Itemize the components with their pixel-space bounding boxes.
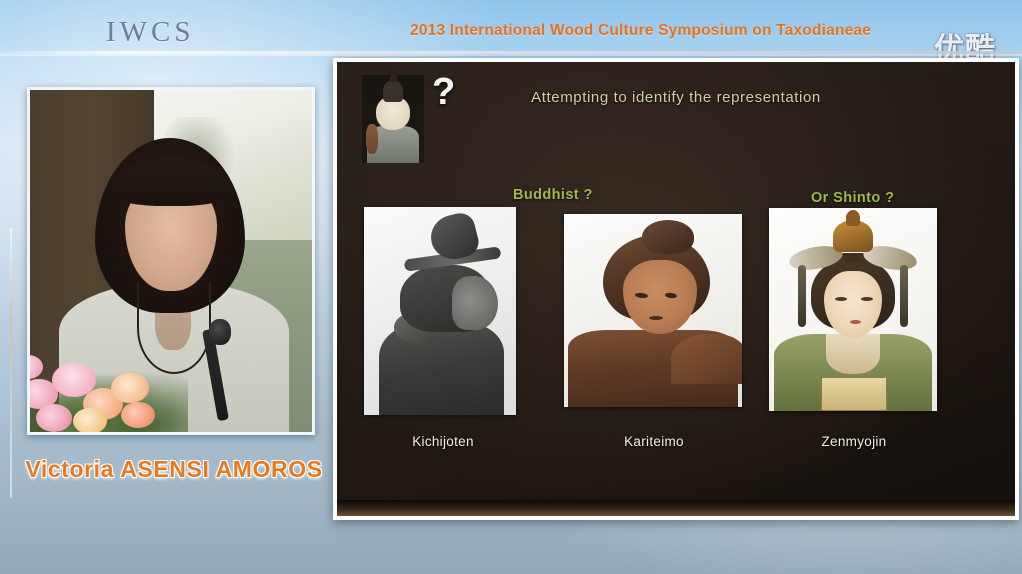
figure-image-zenmyojin[interactable] (769, 208, 937, 411)
thumbnail-statue-arm (366, 124, 378, 154)
figure-image-kariteimo[interactable] (564, 214, 742, 407)
figure-caption-zenmyojin: Zenmyojin (789, 434, 919, 449)
statue-one-torso (379, 323, 504, 415)
reference-statue-thumbnail (362, 75, 424, 163)
speaker-name-banner: Victoria ASENSI AMOROS (16, 452, 332, 486)
statue-two-face (623, 260, 698, 333)
presentation-slide[interactable]: Attempting to identify the representatio… (333, 58, 1019, 520)
statue-three-mouth (850, 320, 861, 324)
statue-three-collar (826, 334, 880, 375)
iwcs-logo: IWCS (106, 16, 195, 49)
figure-caption-kariteimo: Kariteimo (589, 434, 719, 449)
category-label-buddhist: Buddhist ? (513, 187, 593, 203)
speaker-video-frame (30, 90, 312, 432)
statue-three-tablet (821, 377, 887, 411)
header-bar: IWCS 2013 International Wood Culture Sym… (0, 0, 1022, 52)
question-mark-icon: ? (432, 73, 455, 111)
statue-two-graphic (564, 214, 742, 407)
slide-bottom-edge (337, 500, 1015, 516)
figure-image-kichijoten[interactable] (364, 207, 516, 415)
category-label-shinto: Or Shinto ? (811, 190, 894, 206)
speaker-video-panel[interactable] (27, 87, 315, 435)
video-player-stage: IWCS 2013 International Wood Culture Sym… (0, 0, 1022, 574)
statue-three-tassel-right (900, 265, 908, 327)
statue-three-crown (833, 220, 873, 252)
figure-caption-kichijoten: Kichijoten (383, 434, 503, 449)
reference-thumbnail-group: ? (362, 75, 467, 163)
statue-two-topknot (642, 220, 694, 254)
statue-three-graphic (769, 208, 937, 411)
statue-one-face (452, 276, 498, 330)
figure-row (337, 207, 1015, 427)
statue-three-tassel-left (798, 265, 806, 327)
speaker-name: Victoria ASENSI AMOROS (16, 452, 332, 486)
statue-two-shoulder (671, 334, 742, 384)
thumbnail-statue-crown (383, 80, 403, 102)
statue-one-graphic (364, 207, 516, 415)
left-edge-tick (10, 228, 12, 498)
flower-bouquet (30, 336, 188, 432)
symposium-title: 2013 International Wood Culture Symposiu… (410, 22, 871, 40)
microphone-head (209, 319, 231, 345)
header-divider-highlight (0, 54, 1022, 56)
